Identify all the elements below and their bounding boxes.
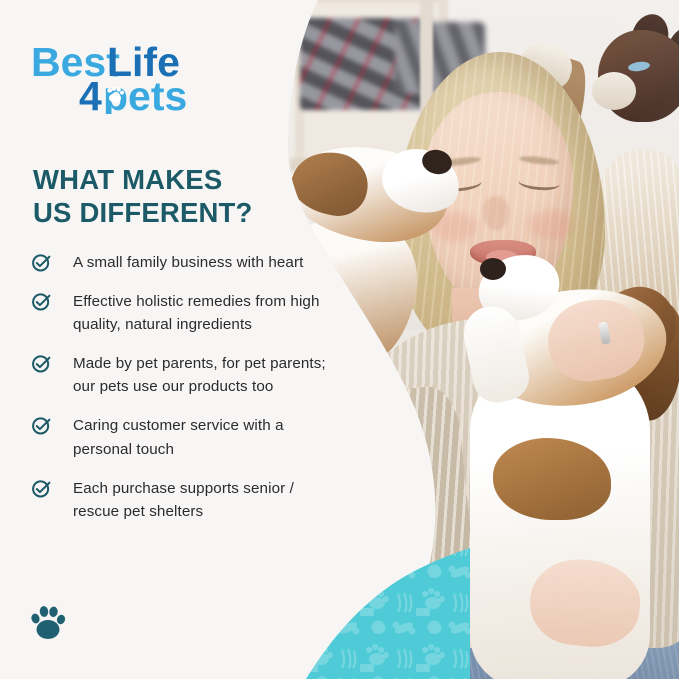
- check-circle-icon: [31, 353, 52, 374]
- list-item: Made by pet parents, for pet parents; ou…: [31, 352, 361, 398]
- benefits-list: A small family business with heart Effec…: [31, 251, 361, 539]
- marketing-infographic: Best Life 4 pets WHAT MAKES US DIFFERENT…: [0, 0, 679, 679]
- check-circle-icon: [31, 478, 52, 499]
- check-circle-icon: [31, 415, 52, 436]
- paw-print-icon: [28, 603, 68, 641]
- list-item: Each purchase supports senior / rescue p…: [31, 477, 361, 523]
- list-item: Effective holistic remedies from high qu…: [31, 290, 361, 336]
- list-item-label: A small family business with heart: [73, 251, 303, 274]
- list-item: A small family business with heart: [31, 251, 361, 274]
- brand-logo-svg: Best Life 4 pets: [31, 36, 201, 114]
- list-item-label: Made by pet parents, for pet parents; ou…: [73, 352, 326, 398]
- photo-dog-held-nose: [480, 258, 506, 280]
- photo-woman-nose: [483, 196, 509, 230]
- logo-text-four: 4: [79, 73, 102, 114]
- list-item-label: Effective holistic remedies from high qu…: [73, 290, 320, 336]
- photo-woman-cheek-right: [528, 210, 574, 240]
- list-item-label: Each purchase supports senior / rescue p…: [73, 477, 294, 523]
- page-title: WHAT MAKES US DIFFERENT?: [33, 163, 303, 230]
- photo-cat-muzzle: [592, 72, 636, 110]
- list-item: Caring customer service with a personal …: [31, 414, 361, 460]
- check-circle-icon: [31, 252, 52, 273]
- check-circle-icon: [31, 291, 52, 312]
- list-item-label: Caring customer service with a personal …: [73, 414, 284, 460]
- content-column: Best Life 4 pets WHAT MAKES US DIFFERENT…: [0, 0, 300, 679]
- brand-logo[interactable]: Best Life 4 pets: [31, 36, 201, 112]
